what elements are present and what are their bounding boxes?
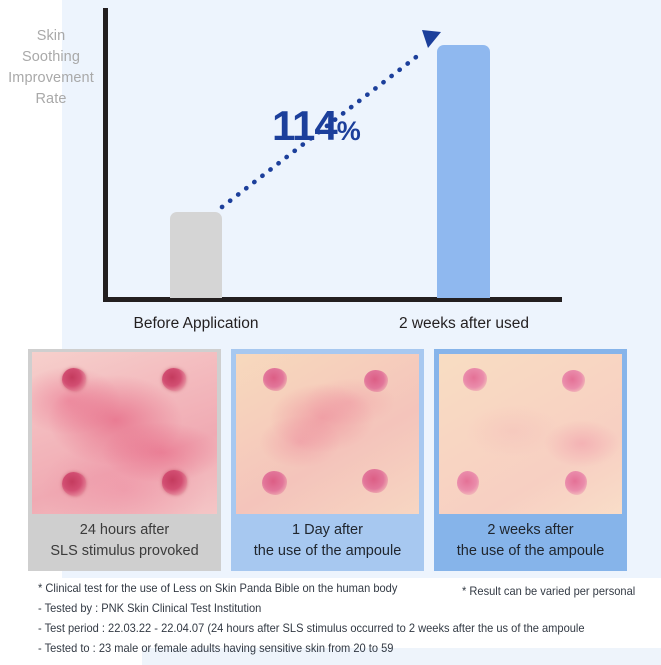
photo-card-2-weeks: 2 weeks after the use of the ampoule <box>434 349 627 571</box>
photo-caption-2-weeks: 2 weeks after the use of the ampoule <box>434 520 627 571</box>
footnote-line-2: - Tested by : PNK Skin Clinical Test Ins… <box>38 601 261 615</box>
category-label-after: 2 weeks after used <box>374 315 554 333</box>
lesion-spot <box>463 368 487 390</box>
skin-texture <box>32 352 217 514</box>
footnote-line-1: * Clinical test for the use of Less on S… <box>38 581 397 595</box>
improvement-unit: % <box>337 116 361 146</box>
skin-photo-1-day <box>236 354 419 514</box>
skin-photo-2-weeks <box>439 354 622 514</box>
category-label-before: Before Application <box>106 315 286 333</box>
photo-card-24-hours: 24 hours after SLS stimulus provoked <box>28 349 221 571</box>
footnote-line-4: - Tested to : 23 male or female adults h… <box>38 641 393 655</box>
lesion-spot <box>162 368 186 391</box>
lesion-spot <box>263 368 287 390</box>
photo-caption-1-day: 1 Day after the use of the ampoule <box>231 520 424 571</box>
caption-line-2: the use of the ampoule <box>434 541 627 562</box>
lesion-spot <box>457 471 479 495</box>
lesion-spot <box>162 470 188 494</box>
lesion-spot <box>62 368 86 391</box>
photo-caption-24-hours: 24 hours after SLS stimulus provoked <box>28 520 221 571</box>
lesion-spot <box>62 472 86 496</box>
improvement-rate-value: 114% <box>272 104 361 153</box>
caption-line-2: SLS stimulus provoked <box>28 541 221 562</box>
caption-line-1: 24 hours after <box>28 520 221 541</box>
footnote-line-3: - Test period : 22.03.22 - 22.04.07 (24 … <box>38 621 585 635</box>
bar-chart: Skin Soothing Improvement Rate 114% Befo… <box>0 0 661 345</box>
caption-line-2: the use of the ampoule <box>231 541 424 562</box>
caption-line-1: 2 weeks after <box>434 520 627 541</box>
lesion-spot <box>362 469 388 493</box>
trend-arrow <box>0 0 661 345</box>
lesion-spot <box>364 370 388 392</box>
skin-photo-24-hours <box>32 352 217 514</box>
photo-card-1-day: 1 Day after the use of the ampoule <box>231 349 424 571</box>
improvement-number: 114 <box>272 102 337 149</box>
lesion-spot <box>565 471 587 495</box>
footnote-disclaimer: * Result can be varied per personal <box>462 584 635 598</box>
photo-card-group: 24 hours after SLS stimulus provoked 1 D… <box>28 349 637 571</box>
caption-line-1: 1 Day after <box>231 520 424 541</box>
footnotes: * Clinical test for the use of Less on S… <box>38 580 650 660</box>
infographic-root: Skin Soothing Improvement Rate 114% Befo… <box>0 0 661 665</box>
lesion-spot <box>262 471 288 495</box>
